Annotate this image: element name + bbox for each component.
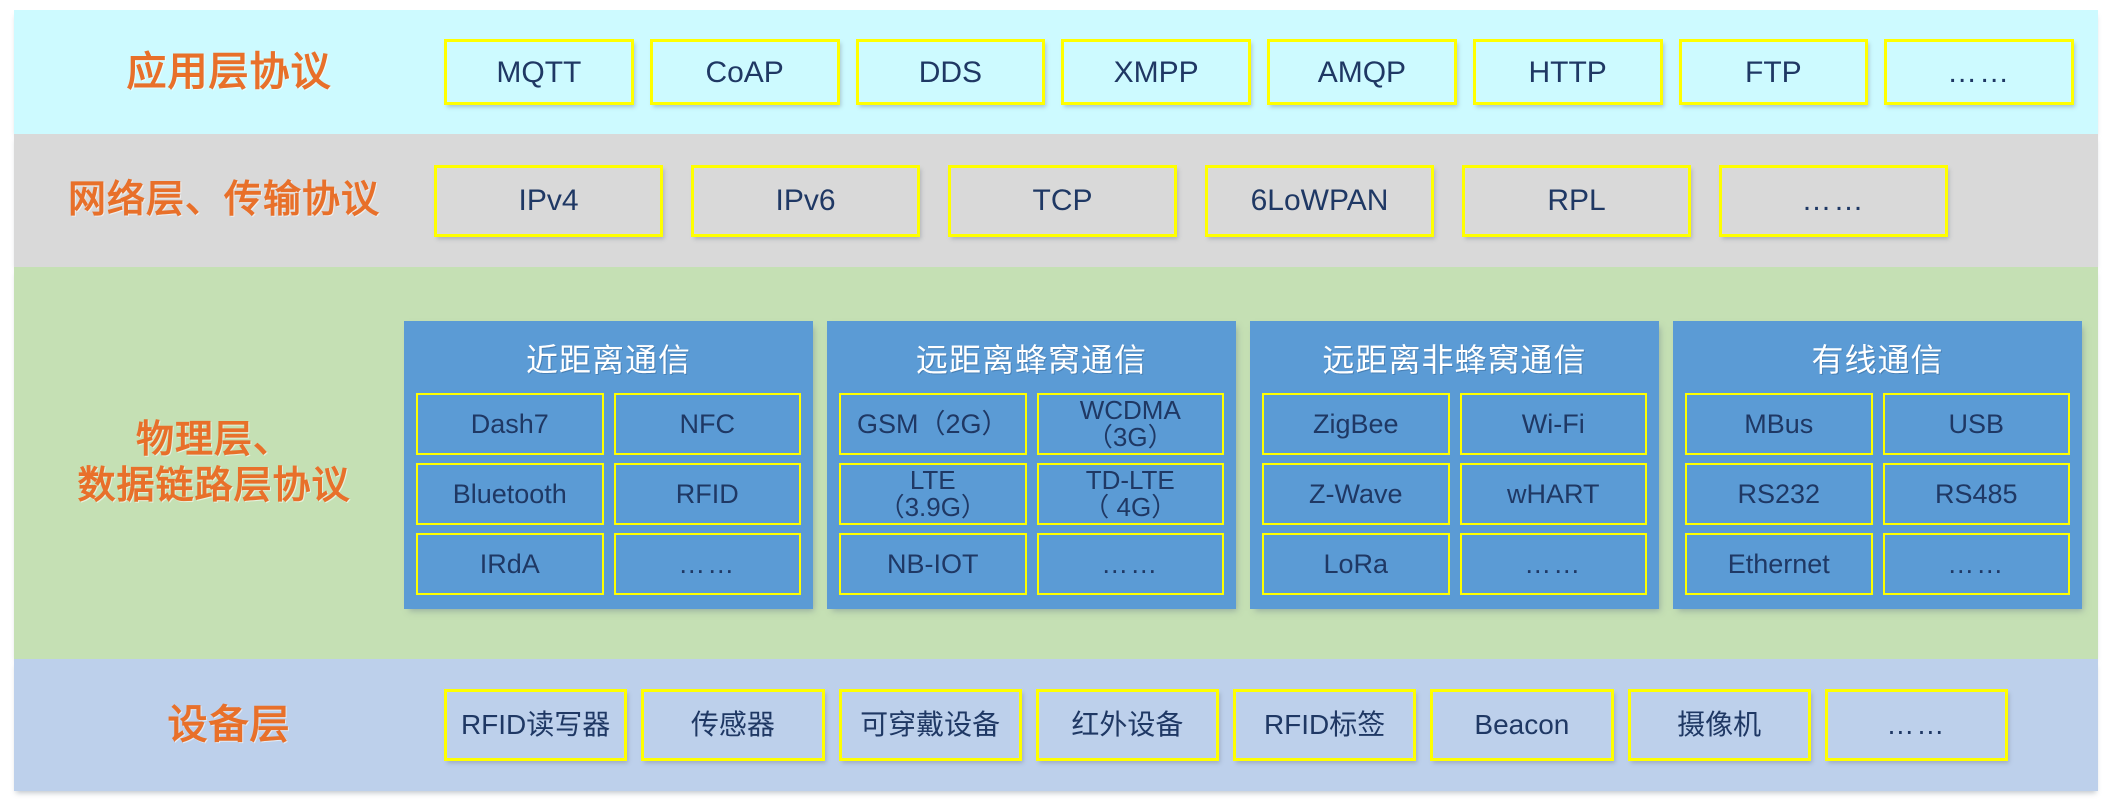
protocol-chip: IPv6 <box>691 165 920 237</box>
protocol-chip-ellipsis: …… <box>1037 533 1225 595</box>
layer-device: 设备层 RFID读写器 传感器 可穿戴设备 红外设备 RFID标签 Beacon… <box>14 659 2098 791</box>
layer-network-transport: 网络层、传输协议 IPv4 IPv6 TCP 6LoWPAN RPL …… <box>14 134 2098 267</box>
protocol-chip: LTE （3.9G） <box>839 463 1027 525</box>
network-protocol-list: IPv4 IPv6 TCP 6LoWPAN RPL …… <box>434 165 2098 237</box>
protocol-chip: DDS <box>856 39 1046 105</box>
protocol-chip-ellipsis: …… <box>1719 165 1948 237</box>
application-protocol-list: MQTT CoAP DDS XMPP AMQP HTTP FTP …… <box>444 39 2098 105</box>
layer-label-network-transport: 网络层、传输协议 <box>14 177 434 223</box>
protocol-chip: CoAP <box>650 39 840 105</box>
group-item-grid: ZigBee Wi-Fi Z-Wave wHART LoRa …… <box>1262 393 1647 595</box>
layer-application: 应用层协议 MQTT CoAP DDS XMPP AMQP HTTP FTP …… <box>14 10 2098 134</box>
protocol-chip: NFC <box>614 393 802 455</box>
group-item-grid: MBus USB RS232 RS485 Ethernet …… <box>1685 393 2070 595</box>
protocol-chip: wHART <box>1460 463 1648 525</box>
device-chip: RFID读写器 <box>444 689 627 761</box>
comm-group-short-range: 近距离通信 Dash7 NFC Bluetooth RFID IRdA …… <box>404 321 813 609</box>
group-title: 近距离通信 <box>416 331 801 393</box>
physical-group-list: 近距离通信 Dash7 NFC Bluetooth RFID IRdA …… 远… <box>404 317 2098 609</box>
protocol-chip: XMPP <box>1061 39 1251 105</box>
group-item-grid: Dash7 NFC Bluetooth RFID IRdA …… <box>416 393 801 595</box>
protocol-chip-ellipsis: …… <box>1460 533 1648 595</box>
protocol-chip: RS232 <box>1685 463 1873 525</box>
protocol-chip: Dash7 <box>416 393 604 455</box>
protocol-chip: 6LoWPAN <box>1205 165 1434 237</box>
protocol-chip: AMQP <box>1267 39 1457 105</box>
protocol-chip: RS485 <box>1883 463 2071 525</box>
device-chip: 红外设备 <box>1036 689 1219 761</box>
protocol-chip-ellipsis: …… <box>1883 533 2071 595</box>
group-title: 有线通信 <box>1685 331 2070 393</box>
group-title: 远距离蜂窝通信 <box>839 331 1224 393</box>
protocol-chip: FTP <box>1679 39 1869 105</box>
device-chip: 可穿戴设备 <box>839 689 1022 761</box>
group-item-grid: GSM（2G） WCDMA （3G） LTE （3.9G） TD-LTE （ 4… <box>839 393 1224 595</box>
protocol-chip: MBus <box>1685 393 1873 455</box>
protocol-chip: ZigBee <box>1262 393 1450 455</box>
comm-group-long-range-non-cellular: 远距离非蜂窝通信 ZigBee Wi-Fi Z-Wave wHART LoRa … <box>1250 321 1659 609</box>
layer-label-device: 设备层 <box>14 701 444 750</box>
device-list: RFID读写器 传感器 可穿戴设备 红外设备 RFID标签 Beacon 摄像机… <box>444 689 2098 761</box>
protocol-chip: IPv4 <box>434 165 663 237</box>
device-chip-ellipsis: …… <box>1825 689 2008 761</box>
protocol-chip: TD-LTE （ 4G） <box>1037 463 1225 525</box>
protocol-chip: Bluetooth <box>416 463 604 525</box>
device-chip: 传感器 <box>641 689 824 761</box>
comm-group-wired: 有线通信 MBus USB RS232 RS485 Ethernet …… <box>1673 321 2082 609</box>
protocol-chip-ellipsis: …… <box>1884 39 2074 105</box>
protocol-chip: RPL <box>1462 165 1691 237</box>
device-chip: RFID标签 <box>1233 689 1416 761</box>
protocol-chip: Wi-Fi <box>1460 393 1648 455</box>
protocol-chip: RFID <box>614 463 802 525</box>
comm-group-long-range-cellular: 远距离蜂窝通信 GSM（2G） WCDMA （3G） LTE （3.9G） TD… <box>827 321 1236 609</box>
protocol-chip: IRdA <box>416 533 604 595</box>
protocol-chip: LoRa <box>1262 533 1450 595</box>
protocol-chip: WCDMA （3G） <box>1037 393 1225 455</box>
protocol-chip: HTTP <box>1473 39 1663 105</box>
protocol-chip: MQTT <box>444 39 634 105</box>
protocol-chip: Z-Wave <box>1262 463 1450 525</box>
protocol-chip: USB <box>1883 393 2071 455</box>
device-chip: Beacon <box>1430 689 1613 761</box>
layer-physical-datalink: 物理层、 数据链路层协议 近距离通信 Dash7 NFC Bluetooth R… <box>14 267 2098 659</box>
iot-protocol-stack-diagram: 应用层协议 MQTT CoAP DDS XMPP AMQP HTTP FTP …… <box>0 0 2112 807</box>
protocol-chip: NB-IOT <box>839 533 1027 595</box>
protocol-chip: GSM（2G） <box>839 393 1027 455</box>
layer-label-application: 应用层协议 <box>14 48 444 97</box>
group-title: 远距离非蜂窝通信 <box>1262 331 1647 393</box>
protocol-chip: Ethernet <box>1685 533 1873 595</box>
protocol-chip: TCP <box>948 165 1177 237</box>
layer-label-physical-datalink: 物理层、 数据链路层协议 <box>24 417 404 510</box>
device-chip: 摄像机 <box>1628 689 1811 761</box>
protocol-chip-ellipsis: …… <box>614 533 802 595</box>
